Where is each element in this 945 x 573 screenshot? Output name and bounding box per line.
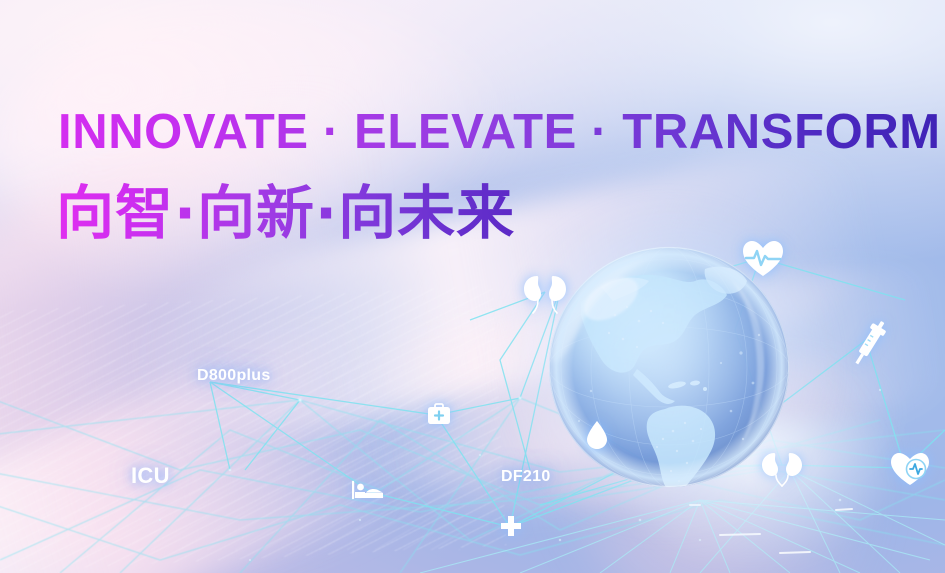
label-icu: ICU (131, 463, 170, 489)
kidneys-icon (760, 450, 804, 488)
banner-subheadline: 向智·向新·向未来 (56, 166, 515, 250)
heart-pulse-icon (742, 240, 784, 278)
hospital-bed-icon (352, 480, 384, 500)
banner-headline: INNOVATE · ELEVATE · TRANSFORM (58, 104, 941, 160)
kidneys-icon (521, 272, 569, 314)
hero-banner: INNOVATE · ELEVATE · TRANSFORM 向智·向新·向未来… (0, 0, 945, 573)
label-d800plus: D800plus (197, 367, 271, 385)
glass-globe (545, 243, 793, 491)
medical-bag-icon (427, 403, 451, 425)
heart-monitor-icon (890, 452, 930, 486)
label-df210: DF210 (501, 468, 551, 486)
syringe-icon (852, 318, 886, 370)
medical-cross-icon (500, 515, 522, 537)
water-drop-icon (585, 420, 609, 450)
